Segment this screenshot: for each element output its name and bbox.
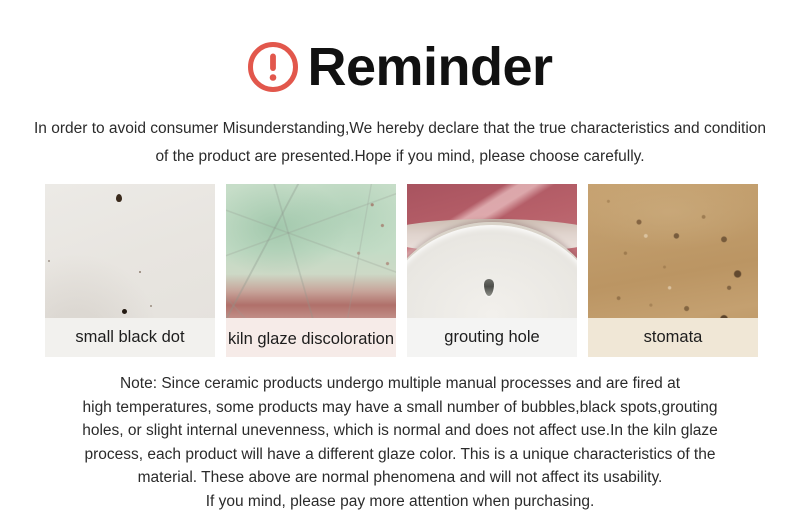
- page-title-row: Reminder: [0, 28, 800, 106]
- note-line-1: Note: Since ceramic products undergo mul…: [26, 372, 774, 396]
- defect-caption: grouting hole: [407, 318, 577, 357]
- grouting-hole-mark: [484, 279, 494, 296]
- speck: [139, 271, 141, 273]
- defect-card-stomata: stomata: [588, 184, 758, 357]
- defect-card-kiln-glaze-discoloration: kiln glaze discoloration: [226, 184, 396, 357]
- note-line-6: If you mind, please pay more attention w…: [26, 490, 774, 514]
- reminder-infographic: Reminder In order to avoid consumer Misu…: [0, 0, 800, 524]
- defect-card-small-black-dot: small black dot: [45, 184, 215, 357]
- speck: [116, 194, 122, 202]
- speck: [150, 305, 152, 307]
- exclamation-circle-icon: [247, 41, 299, 93]
- note-line-5: material. These above are normal phenome…: [26, 466, 774, 490]
- speck: [122, 309, 127, 314]
- subtitle: In order to avoid consumer Misunderstand…: [26, 115, 774, 171]
- defect-card-list: small black dot kiln glaze discoloration…: [45, 184, 755, 357]
- defect-caption: kiln glaze discoloration: [226, 317, 396, 361]
- subtitle-line-2: of the product are presented.Hope if you…: [155, 148, 644, 165]
- note-line-4: process, each product will have a differ…: [26, 443, 774, 467]
- defect-caption: small black dot: [45, 318, 215, 357]
- speck: [48, 260, 50, 262]
- note-line-3: holes, or slight internal unevenness, wh…: [26, 419, 774, 443]
- note-line-2: high temperatures, some products may hav…: [26, 396, 774, 420]
- defect-caption: stomata: [588, 318, 758, 357]
- defect-card-grouting-hole: grouting hole: [407, 184, 577, 357]
- subtitle-line-1: In order to avoid consumer Misunderstand…: [34, 120, 766, 137]
- disclaimer-note: Note: Since ceramic products undergo mul…: [26, 372, 774, 513]
- page-title: Reminder: [307, 37, 552, 97]
